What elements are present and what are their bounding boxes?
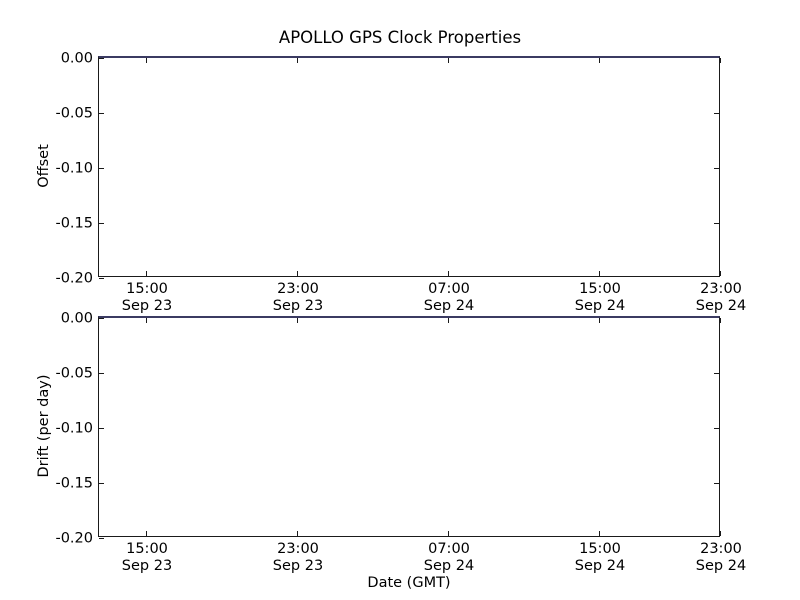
drift-ytick-right-2 xyxy=(714,428,719,429)
offset-xtick-label-0: 15:00 Sep 23 xyxy=(122,281,172,315)
offset-xtick-top-2 xyxy=(448,58,449,63)
offset-ytick-4: -0.20 xyxy=(99,278,104,279)
drift-xtick-label-2: 07:00 Sep 24 xyxy=(424,541,474,575)
offset-xtick-4: 23:00 Sep 24 xyxy=(720,271,721,276)
drift-ytick-label-4: -0.20 xyxy=(55,532,93,547)
drift-xtick-top-3 xyxy=(599,318,600,323)
drift-ytick-2: -0.10 xyxy=(99,428,104,429)
x-axis-label: Date (GMT) xyxy=(98,575,720,592)
drift-ytick-1: -0.05 xyxy=(99,373,104,374)
chart-title: APOLLO GPS Clock Properties xyxy=(0,28,800,48)
drift-xtick-top-1 xyxy=(297,318,298,323)
offset-xtick-top-0 xyxy=(146,58,147,63)
drift-ytick-4: -0.20 xyxy=(99,538,104,539)
drift-ytick-label-2: -0.10 xyxy=(55,422,93,437)
offset-ytick-label-1: -0.05 xyxy=(55,107,93,122)
offset-xtick-3: 15:00 Sep 24 xyxy=(599,271,600,276)
offset-xtick-top-1 xyxy=(297,58,298,63)
offset-axis-label: Offset xyxy=(36,144,52,188)
offset-plot-area xyxy=(99,58,719,276)
drift-xtick-1: 23:00 Sep 23 xyxy=(297,531,298,536)
offset-ytick-0: 0.00 xyxy=(99,58,104,59)
offset-xtick-1: 23:00 Sep 23 xyxy=(297,271,298,276)
offset-ytick-2: -0.10 xyxy=(99,168,104,169)
offset-ytick-right-3 xyxy=(714,223,719,224)
drift-ytick-label-0: 0.00 xyxy=(61,312,93,327)
offset-xtick-label-2: 07:00 Sep 24 xyxy=(424,281,474,315)
drift-axis-label: Drift (per day) xyxy=(36,375,52,478)
drift-xtick-3: 15:00 Sep 24 xyxy=(599,531,600,536)
drift-xtick-label-3: 15:00 Sep 24 xyxy=(575,541,625,575)
offset-ytick-right-1 xyxy=(714,113,719,114)
offset-ytick-1: -0.05 xyxy=(99,113,104,114)
drift-xtick-top-4 xyxy=(720,318,721,323)
offset-xtick-top-3 xyxy=(599,58,600,63)
offset-xtick-0: 15:00 Sep 23 xyxy=(146,271,147,276)
offset-ytick-label-3: -0.15 xyxy=(55,217,93,232)
offset-ytick-right-2 xyxy=(714,168,719,169)
offset-xtick-2: 07:00 Sep 24 xyxy=(448,271,449,276)
drift-xtick-label-4: 23:00 Sep 24 xyxy=(696,541,746,575)
drift-plot-axes[interactable]: 0.00 -0.05 -0.10 -0.15 -0.20 15:00 Sep 2… xyxy=(98,316,720,537)
drift-xtick-4: 23:00 Sep 24 xyxy=(720,531,721,536)
figure-canvas: APOLLO GPS Clock Properties 0.00 -0.05 -… xyxy=(0,0,800,600)
drift-xtick-top-2 xyxy=(448,318,449,323)
drift-xtick-top-0 xyxy=(146,318,147,323)
offset-xtick-label-1: 23:00 Sep 23 xyxy=(273,281,323,315)
drift-xtick-2: 07:00 Sep 24 xyxy=(448,531,449,536)
offset-ytick-3: -0.15 xyxy=(99,223,104,224)
offset-ytick-label-0: 0.00 xyxy=(61,52,93,67)
offset-xtick-top-4 xyxy=(720,58,721,63)
drift-ytick-label-3: -0.15 xyxy=(55,477,93,492)
drift-ytick-label-1: -0.05 xyxy=(55,367,93,382)
offset-xtick-label-4: 23:00 Sep 24 xyxy=(696,281,746,315)
drift-ytick-3: -0.15 xyxy=(99,483,104,484)
offset-xtick-label-3: 15:00 Sep 24 xyxy=(575,281,625,315)
drift-ytick-right-1 xyxy=(714,373,719,374)
drift-ytick-right-3 xyxy=(714,483,719,484)
drift-xtick-0: 15:00 Sep 23 xyxy=(146,531,147,536)
drift-xtick-label-1: 23:00 Sep 23 xyxy=(273,541,323,575)
offset-plot-axes[interactable]: 0.00 -0.05 -0.10 -0.15 -0.20 15:00 Sep 2… xyxy=(98,56,720,277)
drift-plot-area xyxy=(99,318,719,536)
drift-ytick-0: 0.00 xyxy=(99,318,104,319)
offset-ytick-label-2: -0.10 xyxy=(55,162,93,177)
offset-ytick-label-4: -0.20 xyxy=(55,272,93,287)
drift-xtick-label-0: 15:00 Sep 23 xyxy=(122,541,172,575)
